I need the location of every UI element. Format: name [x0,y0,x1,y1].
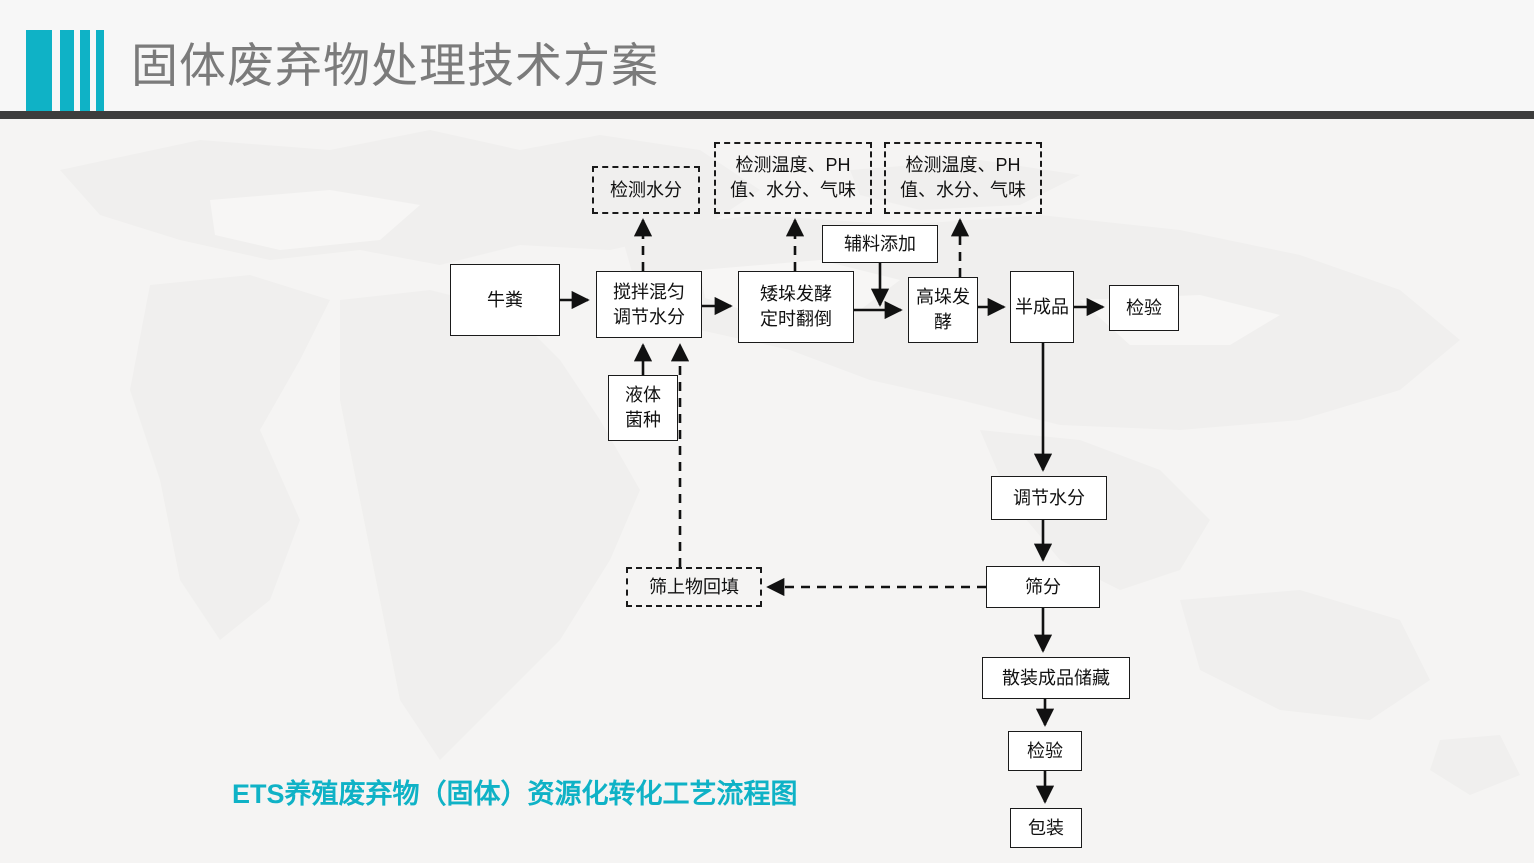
node-label: 包装 [1025,816,1067,841]
node-label: 检测温度、PH值、水分、气味 [716,153,870,203]
node-label: 牛粪 [484,288,526,313]
flowchart-edges [0,0,1534,863]
flowchart-caption: ETS养殖废弃物（固体）资源化转化工艺流程图 [232,772,798,811]
node-packaging[interactable]: 包装 [1010,808,1082,848]
node-label: 矮垛发酵定时翻倒 [757,282,835,332]
node-inspection-2[interactable]: 检验 [1008,731,1082,771]
node-label: 半成品 [1012,295,1072,320]
node-detect-moisture[interactable]: 检测水分 [592,166,700,214]
node-label: 筛分 [1022,575,1064,600]
node-label: 辅料添加 [841,232,919,257]
node-label: 搅拌混匀调节水分 [610,280,688,330]
slide-canvas: 固体废弃物处理技术方案 [0,0,1534,863]
node-label: 调节水分 [1010,486,1088,511]
node-label: 高垛发酵 [909,285,977,335]
node-liquid-strain[interactable]: 液体菌种 [608,375,678,441]
node-label: 检测水分 [607,178,685,203]
node-cow-manure[interactable]: 牛粪 [450,264,560,336]
node-detect-temp-ph-1[interactable]: 检测温度、PH值、水分、气味 [714,142,872,214]
node-bulk-product-storage[interactable]: 散装成品储藏 [982,657,1130,699]
node-detect-temp-ph-2[interactable]: 检测温度、PH值、水分、气味 [884,142,1042,214]
flowchart: 检测水分 检测温度、PH值、水分、气味 检测温度、PH值、水分、气味 辅料添加 … [0,0,1534,863]
node-label: 检测温度、PH值、水分、气味 [886,153,1040,203]
node-high-pile-fermentation[interactable]: 高垛发酵 [908,277,978,343]
node-label: 检验 [1123,296,1165,321]
node-inspection-1[interactable]: 检验 [1109,285,1179,331]
node-adjust-moisture[interactable]: 调节水分 [991,476,1107,520]
node-semi-finished-product[interactable]: 半成品 [1010,271,1074,343]
node-screening[interactable]: 筛分 [986,566,1100,608]
node-label: 液体菌种 [622,383,664,433]
node-low-pile-fermentation[interactable]: 矮垛发酵定时翻倒 [738,271,854,343]
node-mix-adjust-moisture[interactable]: 搅拌混匀调节水分 [596,271,702,338]
node-oversize-backfill[interactable]: 筛上物回填 [626,567,762,607]
node-additive-add[interactable]: 辅料添加 [822,225,938,263]
node-label: 筛上物回填 [646,575,742,600]
node-label: 散装成品储藏 [999,666,1113,691]
node-label: 检验 [1024,739,1066,764]
